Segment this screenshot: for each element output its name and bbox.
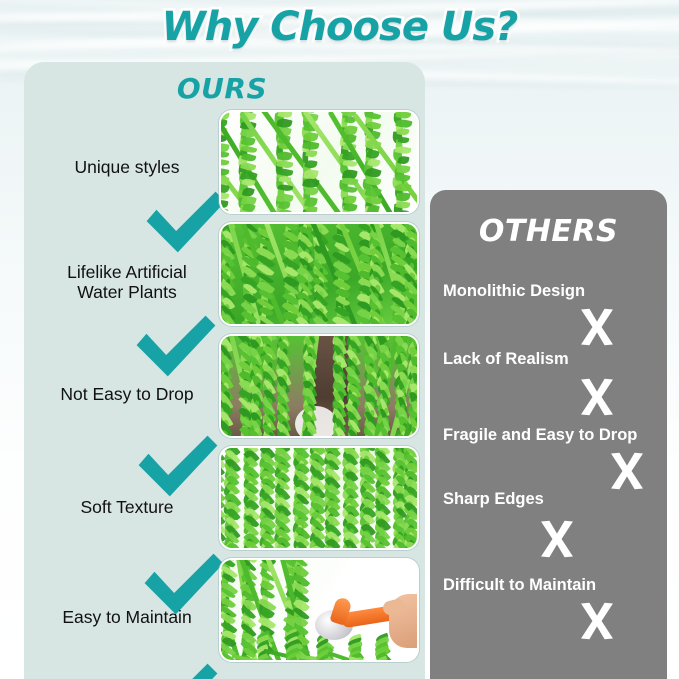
x-mark-icon [608,452,646,495]
x-mark-icon [578,602,616,645]
ours-item-label-line: Soft Texture [34,497,220,517]
ours-photo [219,446,419,550]
others-item-label: Sharp Edges [443,490,544,509]
ours-item-label: Soft Texture [34,497,220,517]
others-item-label: Monolithic Design [443,282,585,301]
plant-leaf [304,159,318,169]
photo-content [221,448,417,548]
check-icon [136,434,220,503]
photo-content [221,560,417,660]
ours-photo [219,222,419,326]
photo-content [221,224,417,324]
others-item-label: Fragile and Easy to Drop [443,426,637,445]
plant-leaf [397,155,410,165]
ours-photo [219,334,419,438]
ours-item-label-line: Easy to Maintain [34,607,220,627]
plant-leaf [278,208,291,212]
others-item-label: Lack of Realism [443,350,569,369]
ours-photo [219,110,419,214]
ours-panel: OURS Unique stylesLifelike ArtificialWat… [24,62,425,679]
check-icon [134,314,218,383]
ours-item-label: Unique styles [34,157,220,177]
ours-heading: OURS [24,72,425,105]
x-mark-icon [578,378,616,421]
x-mark-icon [578,308,616,351]
page-title: Why Choose Us? [0,4,679,50]
ours-item-label-line: Not Easy to Drop [34,384,220,404]
plant-leaf [221,167,230,177]
others-panel: OTHERS Monolithic DesignLack of RealismF… [430,190,667,679]
ours-item-label: Lifelike ArtificialWater Plants [34,262,220,302]
ours-item-label: Not Easy to Drop [34,384,220,404]
plant-leaf [242,203,256,212]
check-icon [144,190,228,259]
plant-leaf [221,191,229,201]
ours-item-label-line: Unique styles [34,157,220,177]
ours-item-label-line: Water Plants [34,282,220,302]
others-heading: OTHERS [430,214,667,249]
ours-photo [219,558,419,662]
infographic-canvas: Why Choose Us? OURS Unique stylesLifelik… [0,0,679,679]
ours-item-label-line: Lifelike Artificial [34,262,220,282]
plant-leaf [221,158,230,167]
plant-leaf [343,202,357,212]
ours-item-label: Easy to Maintain [34,607,220,627]
plant-leaf [221,150,230,159]
others-item-label: Difficult to Maintain [443,576,596,595]
check-icon [136,662,220,679]
plant-leaf [221,199,228,209]
photo-content [221,112,417,212]
photo-content [221,336,417,436]
x-mark-icon [538,520,576,563]
